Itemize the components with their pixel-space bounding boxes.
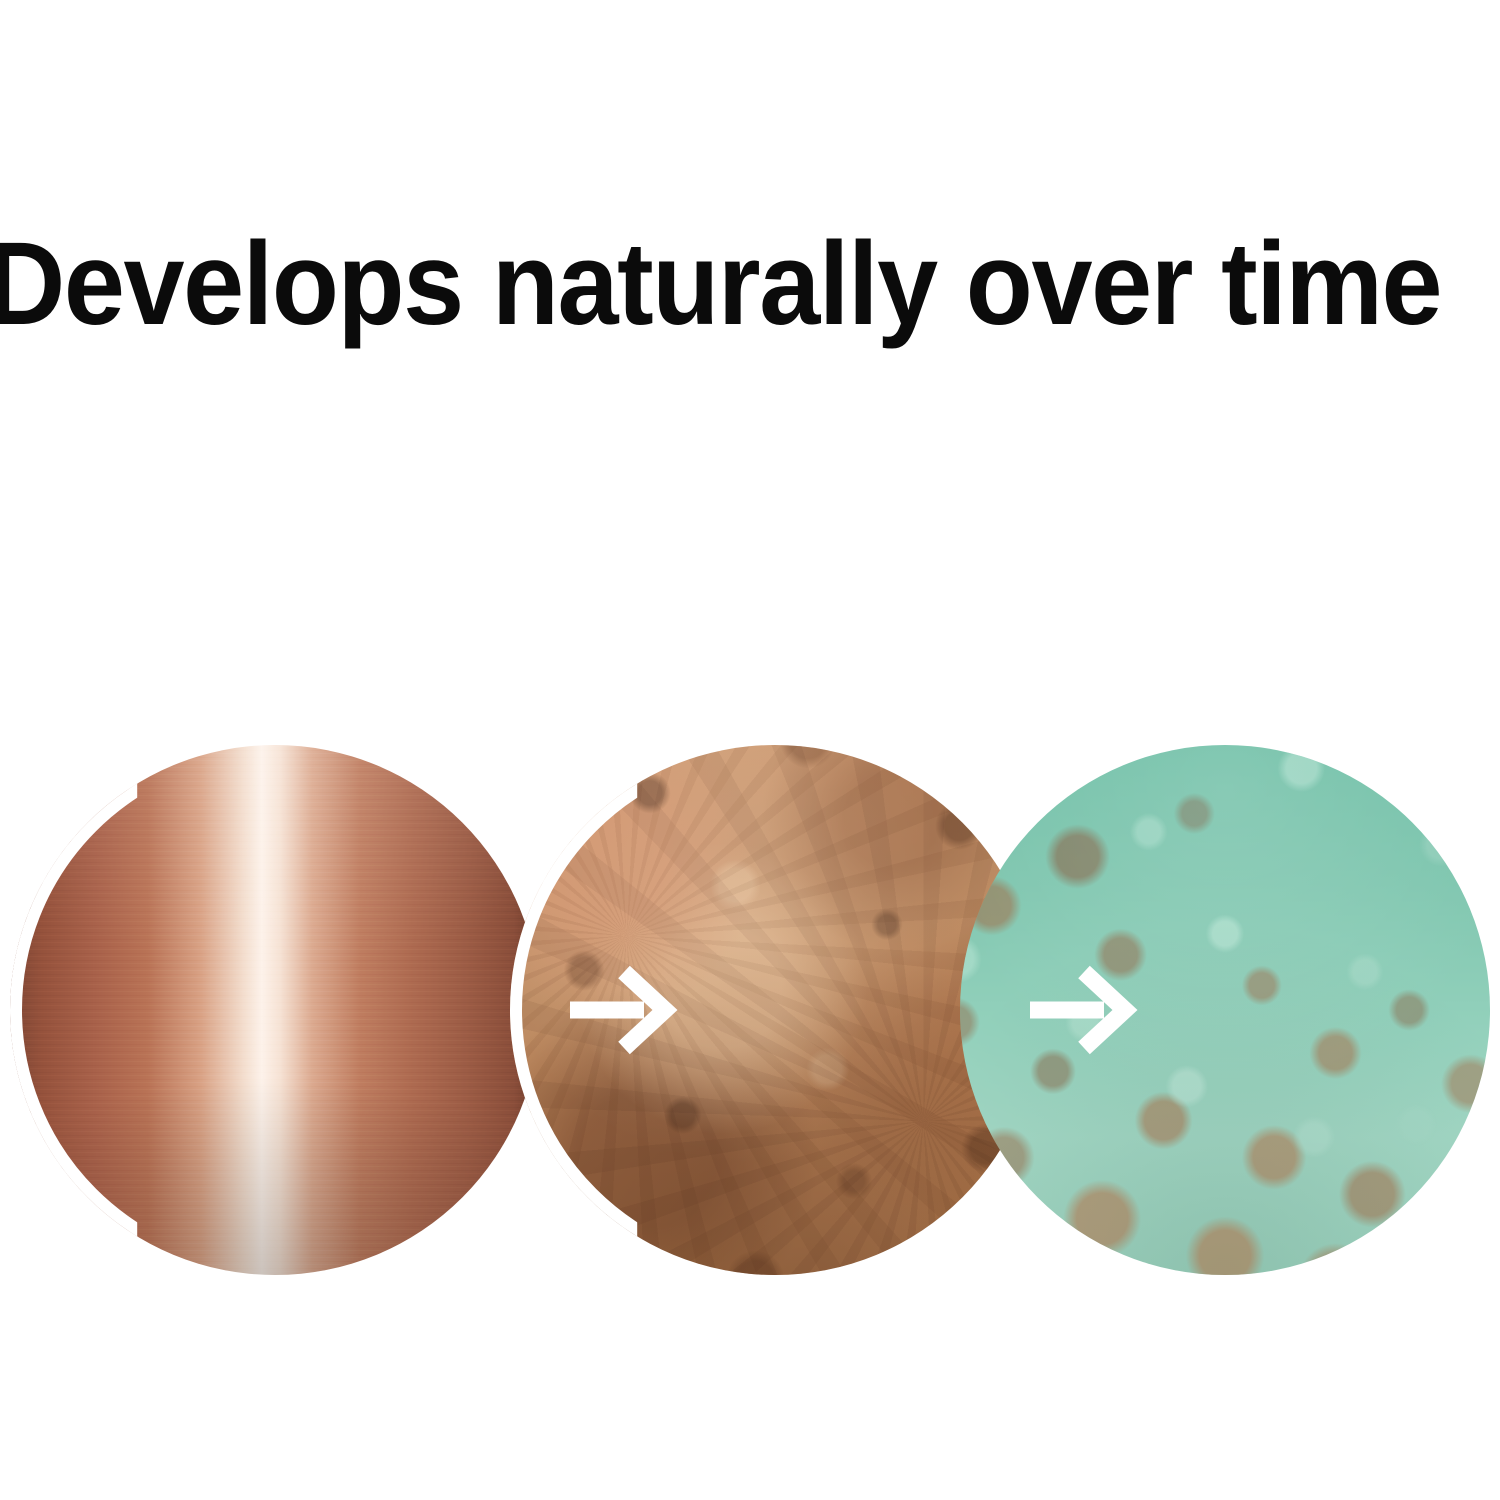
stage-circle-polished-copper	[10, 745, 540, 1275]
stage-circle-green-patina	[960, 745, 1490, 1275]
copper-patina-stage-diagram	[0, 0, 1500, 1500]
patina-shade-overlay	[960, 745, 1490, 1275]
slide-canvas: Develops naturally over time	[0, 0, 1500, 1500]
copper-sheen-overlay	[10, 745, 540, 1275]
